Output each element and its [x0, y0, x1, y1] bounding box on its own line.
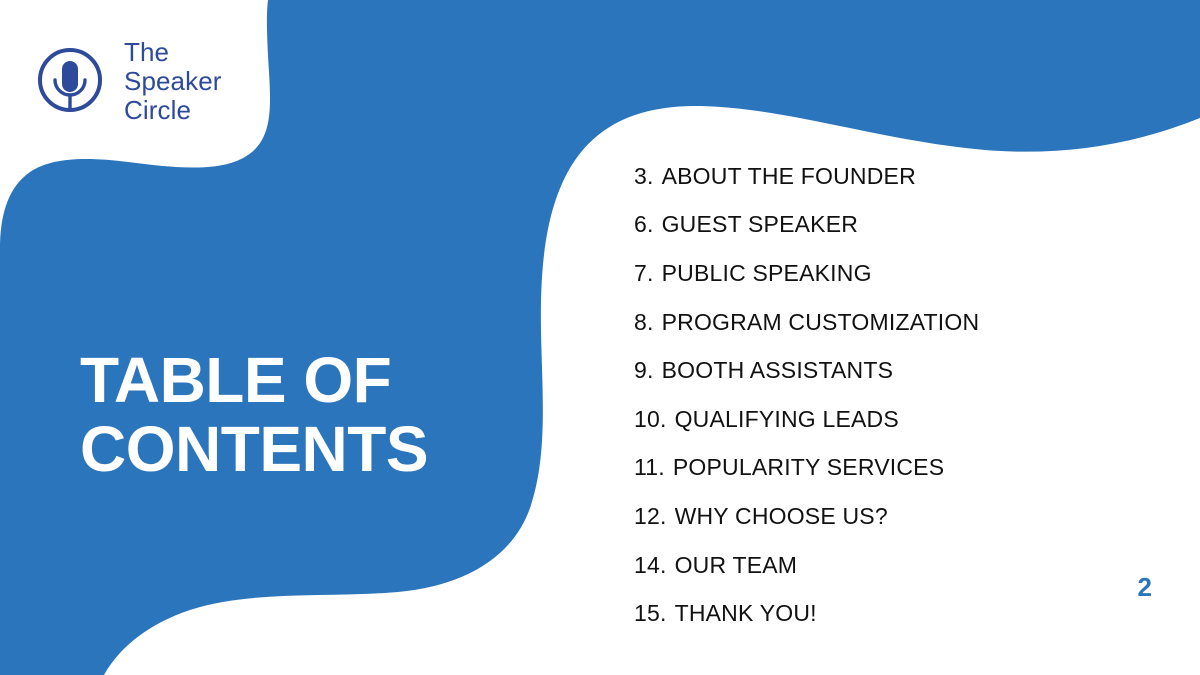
logo: The Speaker Circle	[34, 38, 222, 125]
list-item[interactable]: 11. POPULARITY SERVICES	[634, 444, 979, 493]
list-item-number: 9.	[634, 357, 654, 384]
list-item-number: 12.	[634, 503, 667, 530]
logo-wordmark: The Speaker Circle	[124, 38, 222, 125]
list-item-number: 7.	[634, 260, 654, 287]
list-item[interactable]: 12. WHY CHOOSE US?	[634, 492, 979, 541]
list-item-label: THANK YOU!	[675, 600, 817, 627]
list-item[interactable]: 6. GUEST SPEAKER	[634, 201, 979, 250]
list-item-number: 10.	[634, 406, 667, 433]
list-item-label: WHY CHOOSE US?	[675, 503, 888, 530]
table-of-contents-list: 3. ABOUT THE FOUNDER 6. GUEST SPEAKER 7.…	[634, 152, 979, 638]
list-item-label: QUALIFYING LEADS	[675, 406, 899, 433]
list-item-label: POPULARITY SERVICES	[673, 454, 944, 481]
list-item[interactable]: 3. ABOUT THE FOUNDER	[634, 152, 979, 201]
list-item-number: 8.	[634, 309, 654, 336]
list-item-label: PROGRAM CUSTOMIZATION	[662, 309, 980, 336]
list-item[interactable]: 14. OUR TEAM	[634, 541, 979, 590]
list-item-label: PUBLIC SPEAKING	[662, 260, 872, 287]
page-title: TABLE OF CONTENTS	[80, 346, 510, 484]
microphone-in-circle-icon	[34, 46, 106, 118]
list-item-label: GUEST SPEAKER	[662, 211, 858, 238]
list-item-number: 14.	[634, 552, 667, 579]
list-item-number: 3.	[634, 163, 654, 190]
list-item-label: BOOTH ASSISTANTS	[662, 357, 894, 384]
slide-table-of-contents: The Speaker Circle TABLE OF CONTENTS 3. …	[0, 0, 1200, 675]
list-item-number: 6.	[634, 211, 654, 238]
list-item-number: 15.	[634, 600, 667, 627]
list-item[interactable]: 9. BOOTH ASSISTANTS	[634, 346, 979, 395]
list-item-number: 11.	[634, 454, 665, 481]
list-item[interactable]: 7. PUBLIC SPEAKING	[634, 249, 979, 298]
list-item[interactable]: 8. PROGRAM CUSTOMIZATION	[634, 298, 979, 347]
page-number: 2	[1138, 572, 1152, 603]
list-item[interactable]: 10. QUALIFYING LEADS	[634, 395, 979, 444]
list-item[interactable]: 15. THANK YOU!	[634, 589, 979, 638]
list-item-label: ABOUT THE FOUNDER	[662, 163, 916, 190]
list-item-label: OUR TEAM	[675, 552, 798, 579]
